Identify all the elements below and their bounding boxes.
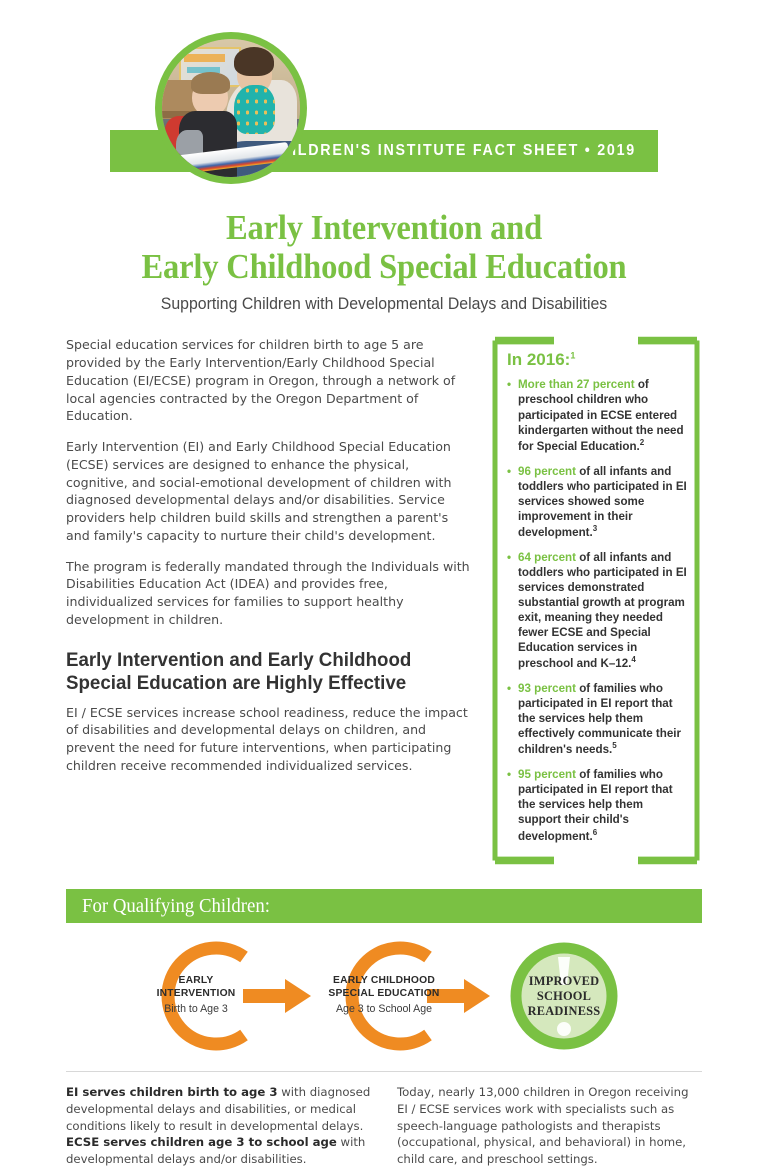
stat-item: 93 percent of families who participated … [507,681,687,757]
main-content: Special education services for children … [66,336,710,865]
page-title: Early Intervention and Early Childhood S… [0,208,768,314]
bottom-left-bold-2: ECSE serves children age 3 to school age [66,1135,337,1149]
qualifying-children-banner: For Qualifying Children: [66,889,702,923]
stat-list: More than 27 percent of preschool childr… [507,377,687,843]
stat-box-title-text: In 2016: [507,350,570,369]
statistics-box: In 2016:1 More than 27 percent of presch… [492,336,700,865]
ecse-label: EARLY CHILDHOOD SPECIAL EDUCATION Age 3 … [325,975,443,1014]
ei-subtitle: Birth to Age 3 [148,1003,244,1015]
stat-box-title: In 2016:1 [507,350,687,370]
stat-lead: More than 27 percent [518,378,635,391]
left-text-column: Special education services for children … [66,336,470,865]
ei-title-line-2: INTERVENTION [148,988,244,1001]
exclamation-dot-icon [557,1022,571,1036]
early-intervention-label: EARLY INTERVENTION Birth to Age 3 [148,975,244,1014]
intro-paragraph-1: Special education services for children … [66,336,470,425]
title-line-2: Early Childhood Special Education [27,247,741,286]
bottom-left-bold-1: EI serves children birth to age 3 [66,1085,278,1099]
stat-lead: 64 percent [518,551,576,564]
arrow-1-icon [243,979,311,1013]
header-photo-ring [155,32,307,184]
stat-footnote: 6 [593,828,597,837]
intro-paragraph-2: Early Intervention (EI) and Early Childh… [66,438,470,545]
title-line-1: Early Intervention and [27,208,741,247]
ecse-title-line-1: EARLY CHILDHOOD [325,975,443,988]
stat-footnote: 5 [612,741,616,750]
bottom-right-text: Today, nearly 13,000 children in Oregon … [397,1084,702,1167]
stat-item: 96 percent of all infants and toddlers w… [507,464,687,540]
effectiveness-heading: Early Intervention and Early Childhood S… [66,649,454,695]
improved-readiness-label: IMPROVED SCHOOL READINESS [506,974,622,1019]
stat-lead: 95 percent [518,768,576,781]
readiness-line-1: IMPROVED [506,974,622,989]
page-subtitle: Supporting Children with Developmental D… [15,295,752,314]
ecse-subtitle: Age 3 to School Age [325,1003,443,1015]
readiness-line-2: SCHOOL [506,989,622,1004]
page-header: CHILDREN'S INSTITUTE FACT SHEET • 2019 [0,0,768,200]
flow-diagram: EARLY INTERVENTION Birth to Age 3 EARLY … [0,935,768,1057]
intro-paragraph-3: The program is federally mandated throug… [66,558,470,629]
stat-footnote: 3 [593,524,597,533]
header-photo [162,39,300,177]
effectiveness-paragraph: EI / ECSE services increase school readi… [66,704,470,775]
qualifying-children-label: For Qualifying Children: [82,895,270,918]
stat-footnote: 4 [631,655,635,664]
ei-title-line-1: EARLY [148,975,244,988]
effectiveness-heading-line-2: Special Education are Highly Effective [66,672,454,695]
stat-lead: 93 percent [518,682,576,695]
stat-item: 95 percent of families who participated … [507,767,687,843]
effectiveness-heading-line-1: Early Intervention and Early Childhood [66,649,454,672]
stat-item: More than 27 percent of preschool childr… [507,377,687,453]
bottom-left-text: EI serves children birth to age 3 with d… [66,1084,371,1167]
stat-footnote: 2 [640,438,644,447]
banner-title: CHILDREN'S INSTITUTE FACT SHEET • 2019 [268,142,636,160]
stat-item: 64 percent of all infants and toddlers w… [507,550,687,671]
stat-lead: 96 percent [518,465,576,478]
stat-rest: of all infants and toddlers who particip… [518,551,687,670]
readiness-line-3: READINESS [506,1004,622,1019]
ecse-title-line-2: SPECIAL EDUCATION [325,988,443,1001]
bottom-columns: EI serves children birth to age 3 with d… [66,1071,702,1167]
stat-box-title-footnote: 1 [570,351,575,361]
